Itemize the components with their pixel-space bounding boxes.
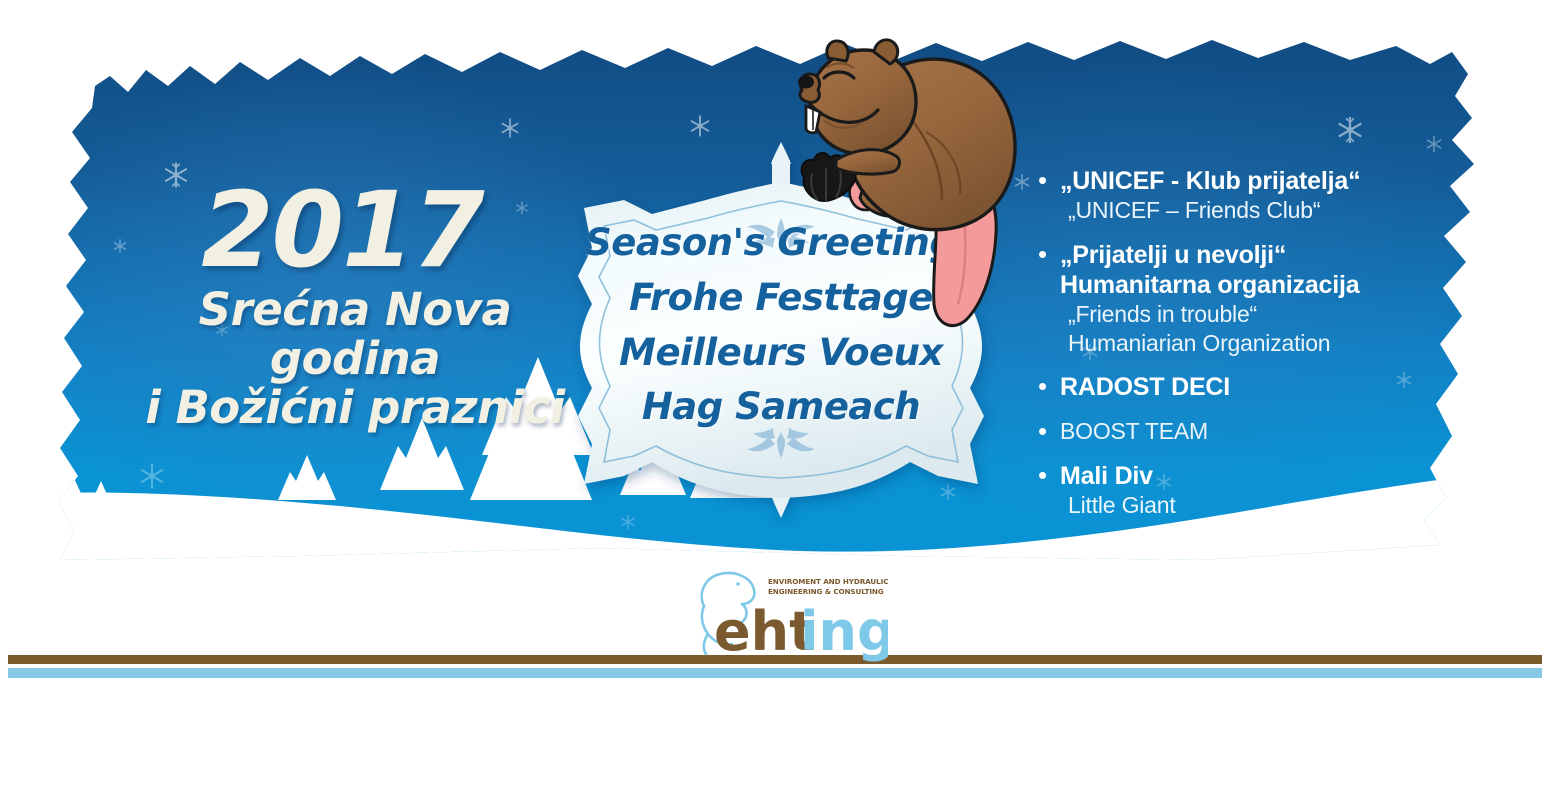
list-item: • „Prijatelji u nevolji“ Humanitarna org… bbox=[1060, 240, 1480, 358]
logo-wordmark-light: ing bbox=[800, 600, 888, 662]
beaver-head bbox=[810, 50, 916, 154]
logo-tagline-line-1: ENVIROMENT AND HYDRAULIC bbox=[768, 577, 888, 586]
list-item: • „UNICEF - Klub prijatelja“ „UNICEF – F… bbox=[1060, 166, 1480, 225]
bullet-icon: • bbox=[1038, 418, 1047, 444]
charity-name-secondary: „UNICEF – Friends Club“ bbox=[1060, 196, 1480, 225]
bullet-icon: • bbox=[1038, 462, 1047, 488]
list-item: • RADOST DECI bbox=[1060, 372, 1480, 402]
charity-name-primary: Mali Div bbox=[1060, 461, 1480, 491]
list-item: • Mali Div Little Giant bbox=[1060, 461, 1480, 520]
company-logo: ENVIROMENT AND HYDRAULIC ENGINEERING & C… bbox=[688, 562, 888, 662]
logo-tagline-line-2: ENGINEERING & CONSULTING bbox=[768, 587, 884, 596]
charity-name-primary: RADOST DECI bbox=[1060, 372, 1480, 402]
charity-name-secondary: Little Giant bbox=[1060, 491, 1480, 520]
charity-name-primary: „UNICEF - Klub prijatelja“ bbox=[1060, 166, 1480, 196]
list-item: • BOOST TEAM bbox=[1060, 417, 1480, 446]
beaver-nose bbox=[798, 76, 814, 89]
charity-name-primary-2: Humanitarna organizacija bbox=[1060, 270, 1480, 300]
charity-name-secondary: „Friends in trouble“ bbox=[1060, 300, 1480, 329]
greeting-card: 2017 Srećna Nova godina i Božićni prazni… bbox=[0, 0, 1550, 792]
charity-name-primary: BOOST TEAM bbox=[1060, 417, 1480, 446]
divider-blue bbox=[8, 668, 1542, 678]
charity-name-primary: „Prijatelji u nevolji“ bbox=[1060, 240, 1480, 270]
charity-list: • „UNICEF - Klub prijatelja“ „UNICEF – F… bbox=[1060, 166, 1480, 535]
charity-name-secondary-2: Humaniarian Organization bbox=[1060, 329, 1480, 358]
beaver-mascot-icon bbox=[776, 28, 1046, 338]
bullet-icon: • bbox=[1038, 373, 1047, 399]
